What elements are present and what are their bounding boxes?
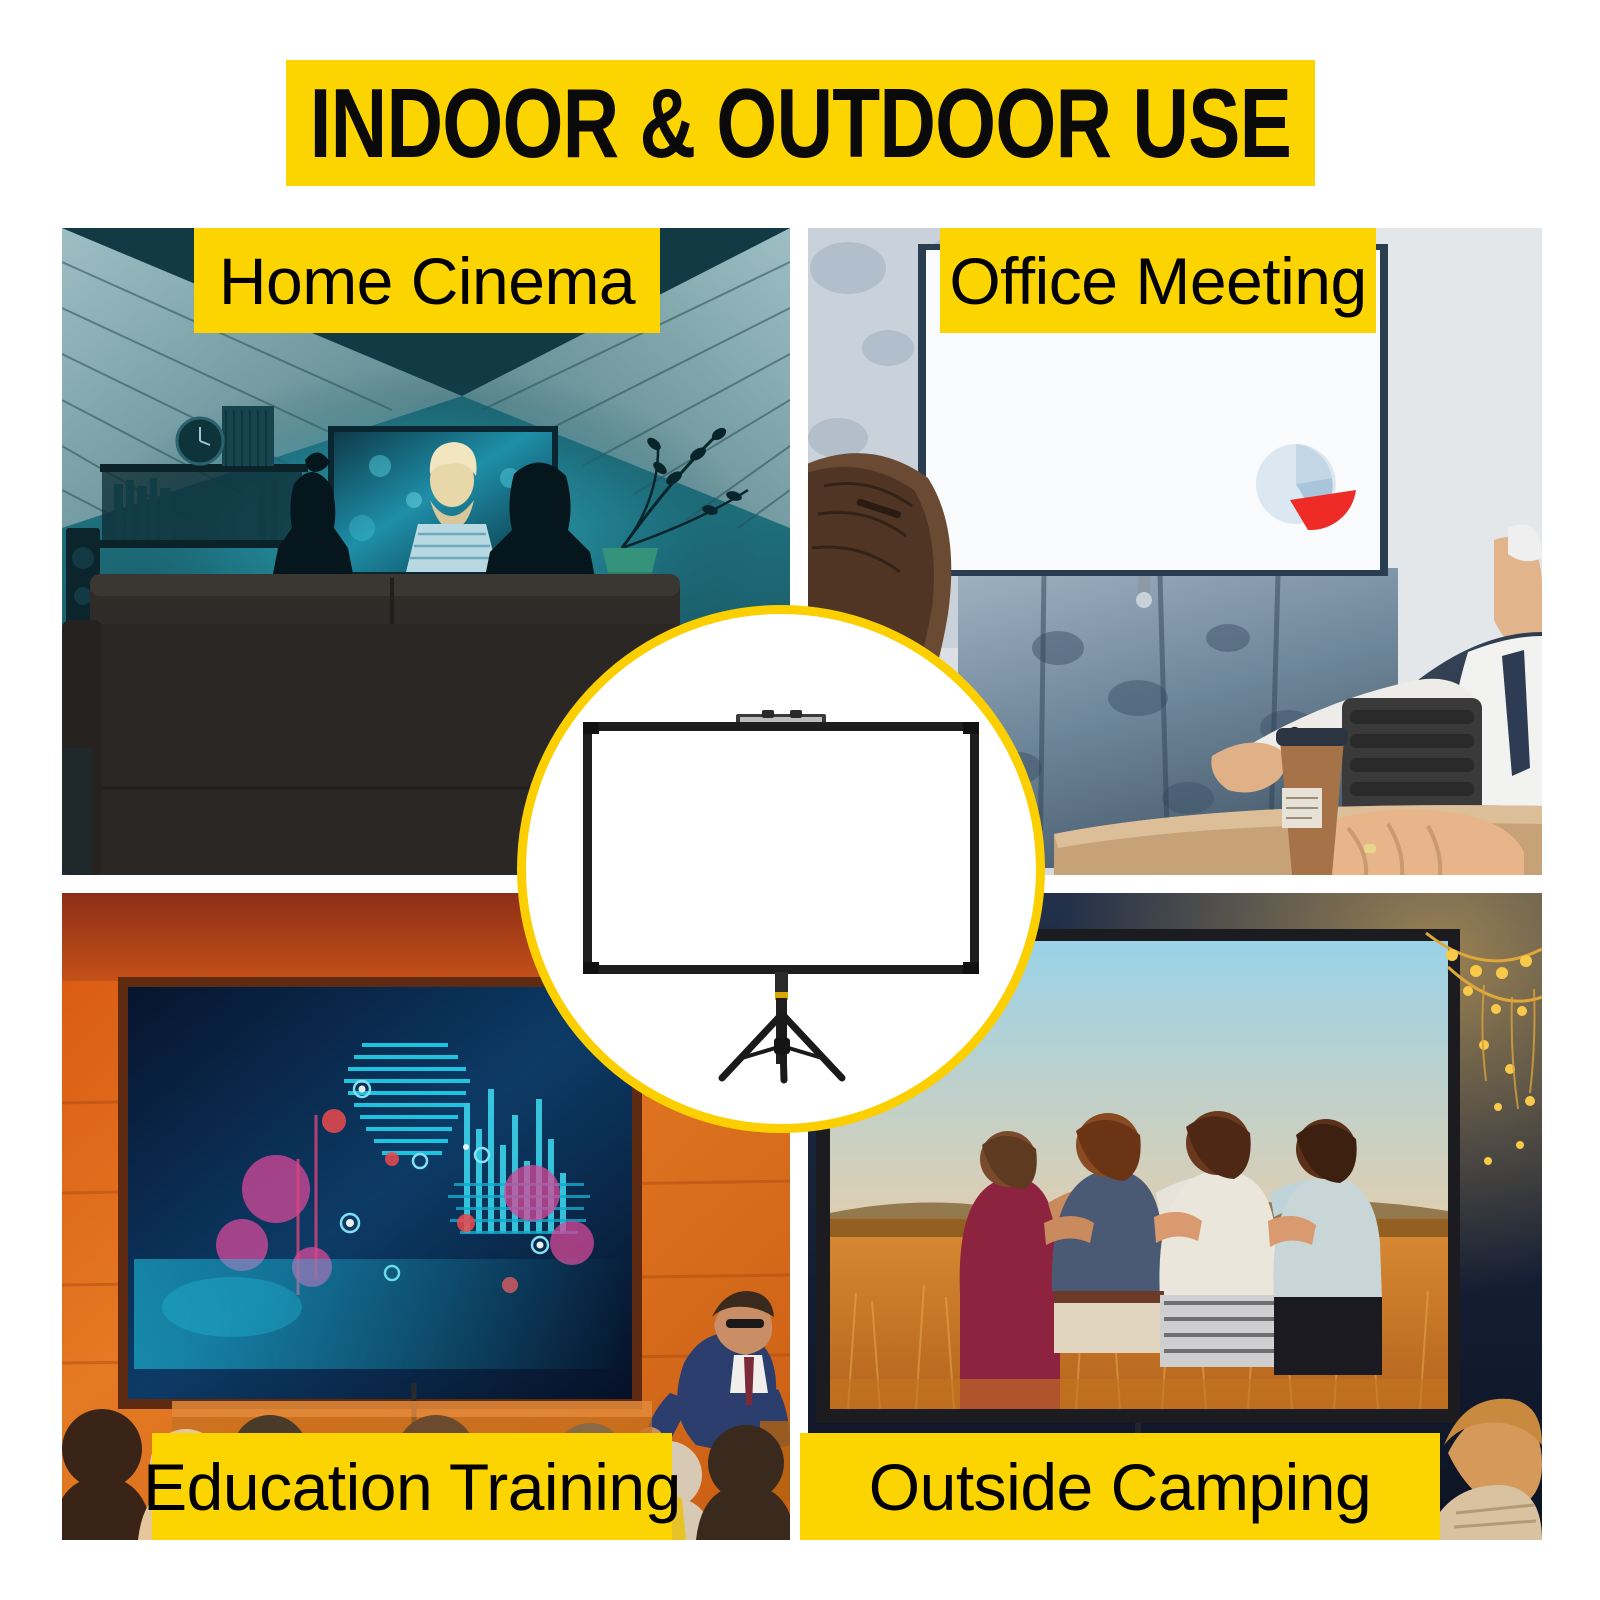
title-banner: INDOOR & OUTDOOR USE <box>286 60 1315 186</box>
product-inset-circle <box>517 605 1045 1133</box>
caption-education-training: Education Training <box>152 1433 672 1540</box>
caption-label: Outside Camping <box>869 1454 1371 1520</box>
caption-label: Home Cinema <box>219 248 635 314</box>
caption-label: Education Training <box>143 1454 681 1520</box>
caption-home-cinema: Home Cinema <box>194 228 660 333</box>
page-title: INDOOR & OUTDOOR USE <box>310 74 1291 172</box>
caption-label: Office Meeting <box>949 248 1366 314</box>
caption-outside-camping: Outside Camping <box>800 1433 1440 1540</box>
tripod-projector-screen-illustration <box>526 614 1036 1124</box>
caption-office-meeting: Office Meeting <box>940 228 1376 333</box>
